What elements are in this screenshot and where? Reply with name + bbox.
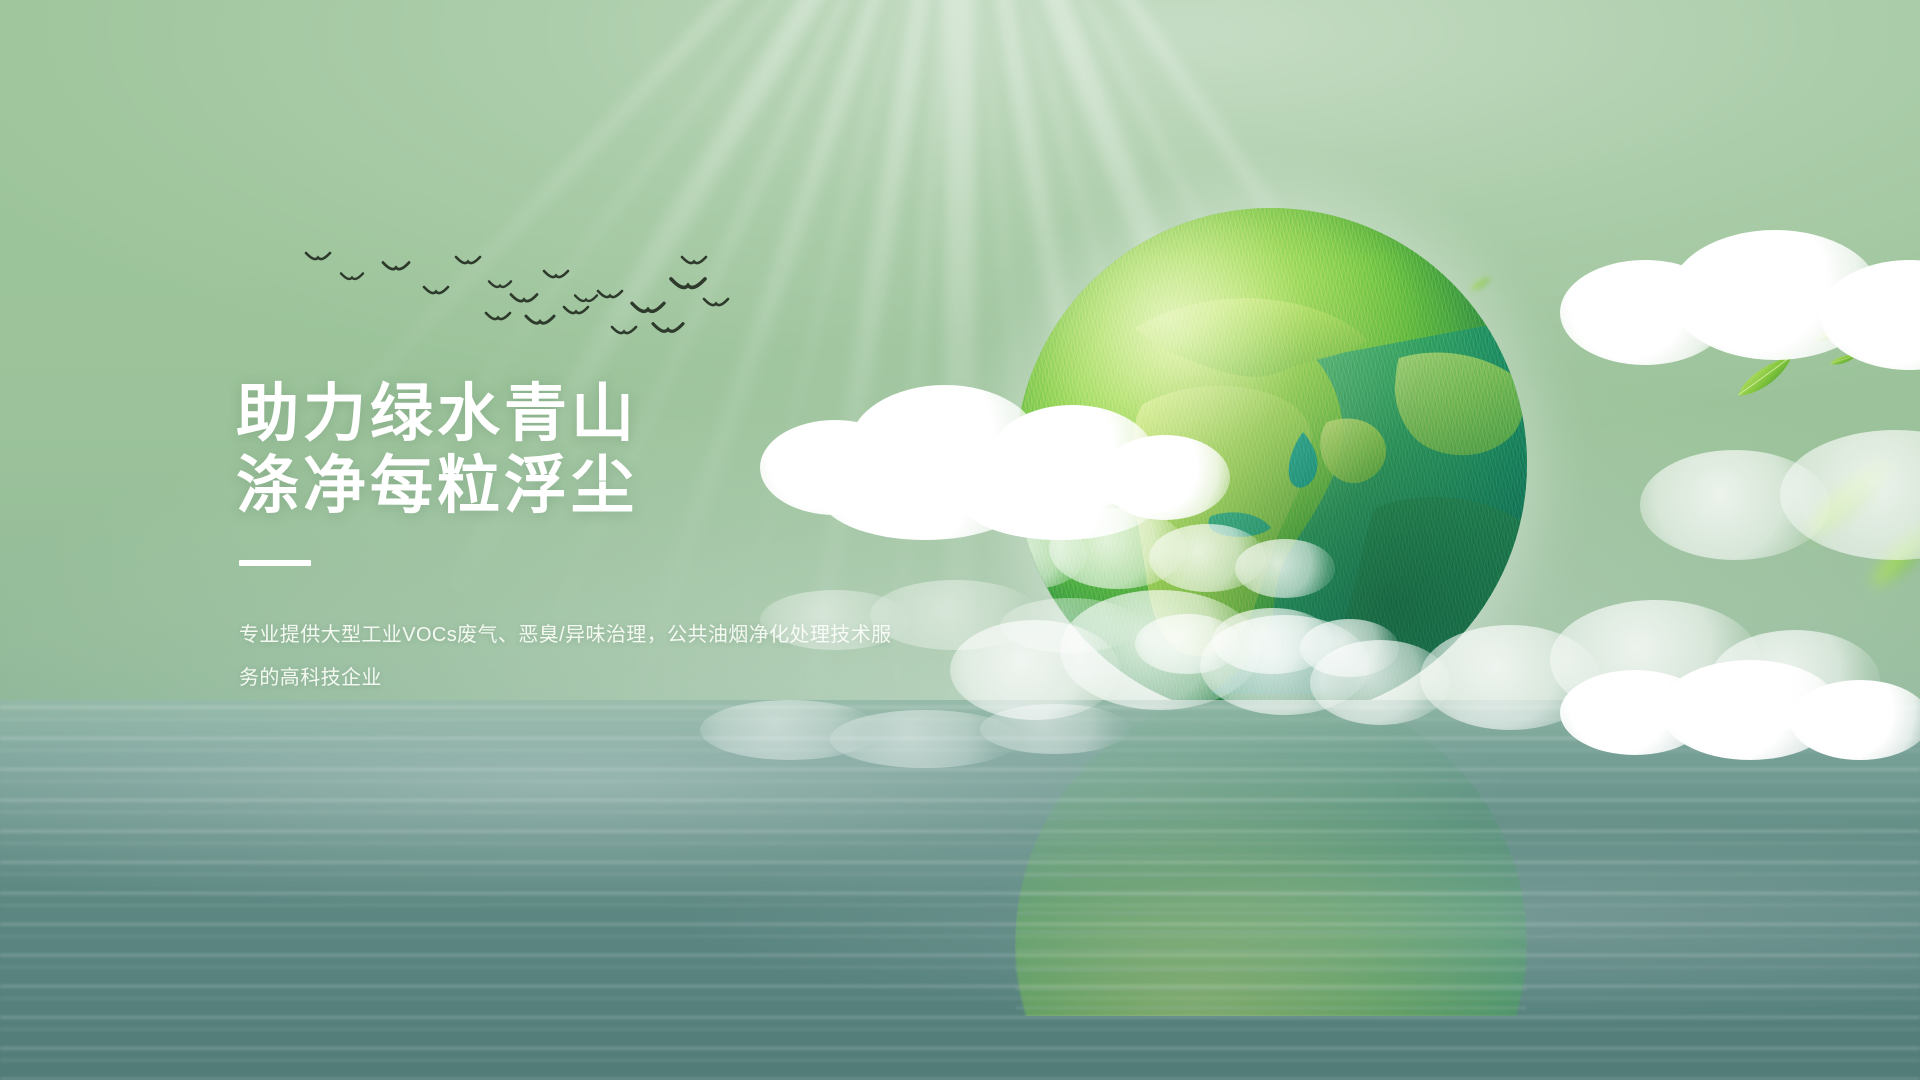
cloud-puff — [1790, 680, 1920, 760]
cloud — [1420, 600, 1421, 601]
cloud — [1560, 660, 1561, 661]
cloud-puff — [1200, 615, 1370, 715]
cloud-puff — [1310, 640, 1450, 725]
cloud-puff — [1060, 590, 1260, 710]
cloud-puff — [1710, 630, 1880, 730]
banner-stage: 助力绿水青山 涤净每粒浮尘 专业提供大型工业VOCs废气、恶臭/异味治理，公共油… — [0, 0, 1920, 1080]
cloud-puff — [950, 620, 1120, 720]
cloud — [950, 590, 951, 591]
cloud-puff — [1420, 625, 1600, 730]
cloud-puff — [1550, 600, 1760, 720]
clouds-foreground — [0, 0, 1920, 860]
cloud-puff — [1560, 670, 1710, 755]
cloud-puff — [1660, 660, 1840, 760]
